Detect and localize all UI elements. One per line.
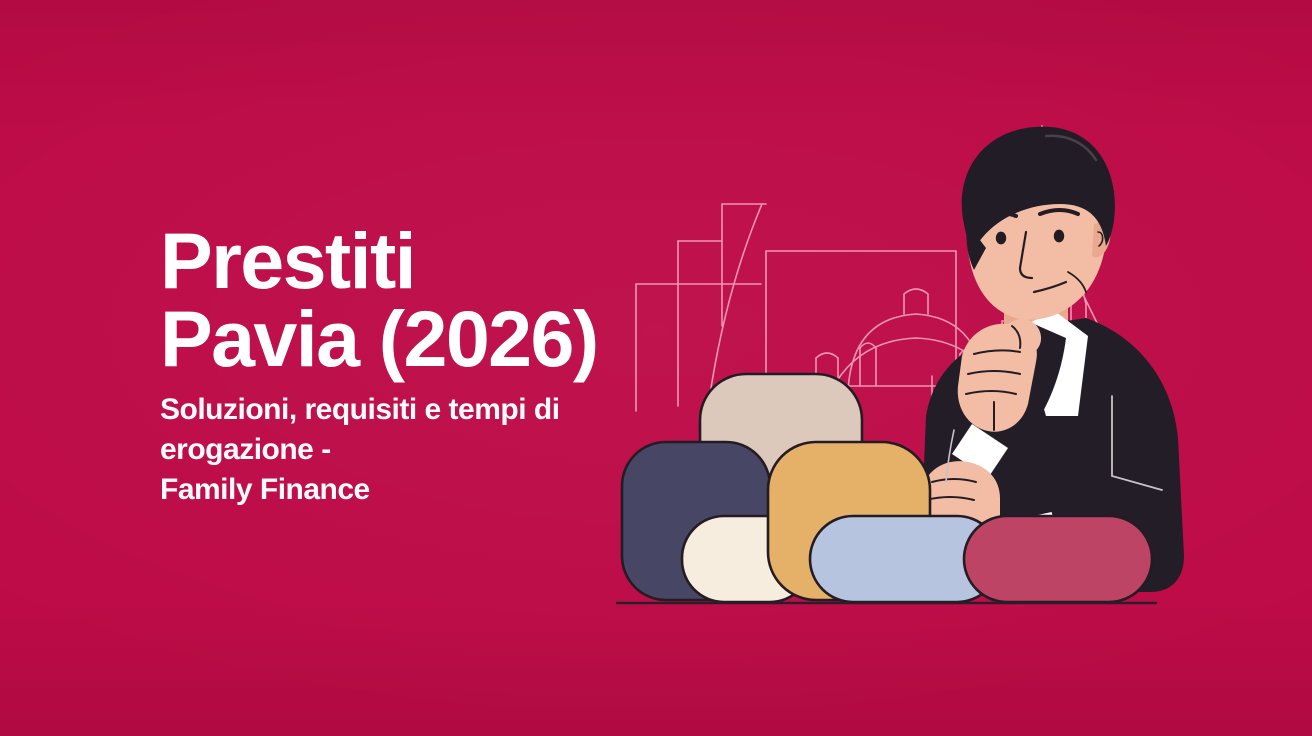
headline-line-1: Prestiti <box>160 222 680 300</box>
eye-left <box>996 232 1006 245</box>
rose-pill <box>964 516 1152 602</box>
subtitle-line-3: Family Finance <box>160 470 680 510</box>
page-title: Prestiti Pavia (2026) <box>160 222 680 378</box>
hero-banner: Prestiti Pavia (2026) Soluzioni, requisi… <box>0 0 1312 736</box>
hero-copy: Prestiti Pavia (2026) Soluzioni, requisi… <box>160 222 680 509</box>
subtitle-line-1: Soluzioni, requisiti e tempi di <box>160 390 680 430</box>
headline-line-2: Pavia (2026) <box>160 300 680 378</box>
hero-illustration <box>616 86 1216 646</box>
eye-right <box>1054 230 1064 243</box>
page-subtitle: Soluzioni, requisiti e tempi di erogazio… <box>160 390 680 509</box>
subtitle-line-2: erogazione - <box>160 430 680 470</box>
